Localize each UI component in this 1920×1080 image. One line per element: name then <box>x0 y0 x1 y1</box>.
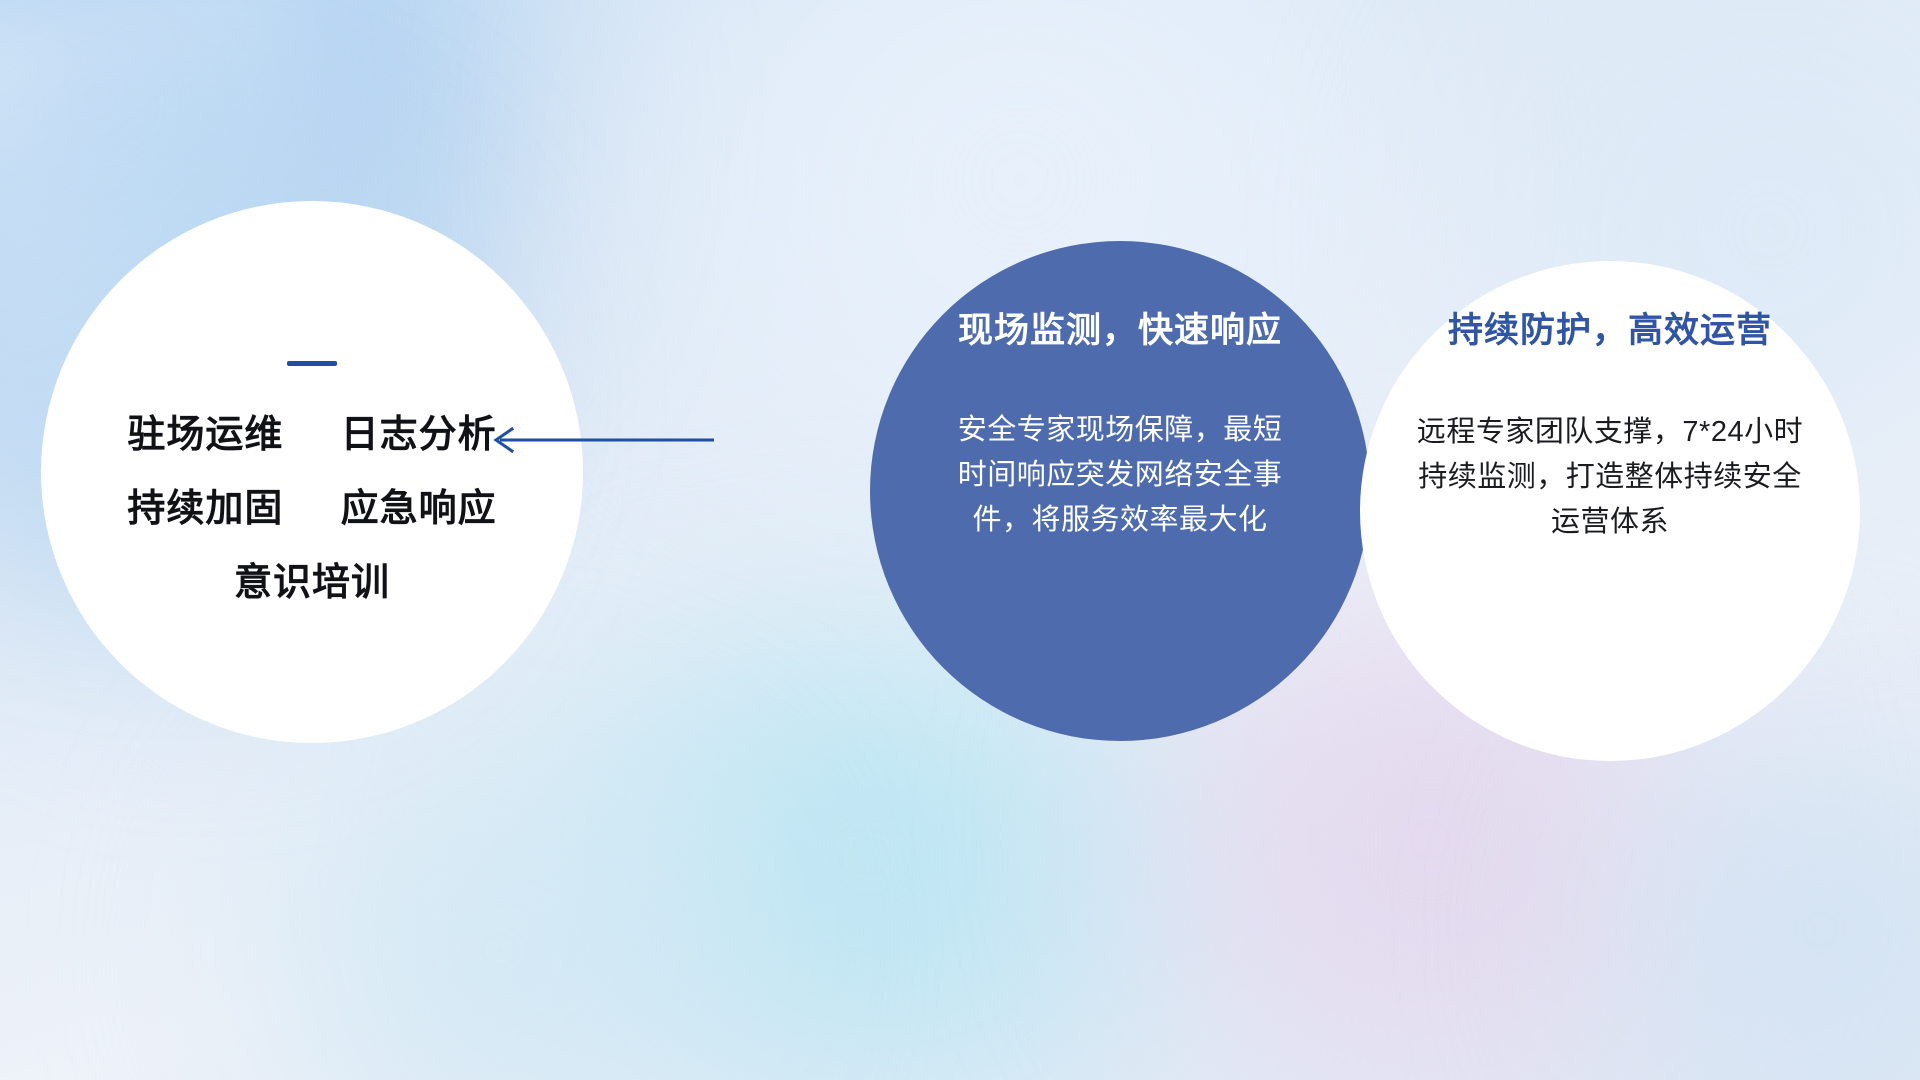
onsite-monitoring-title: 现场监测，快速响应 <box>958 313 1282 348</box>
continuous-protection-content: 持续防护，高效运营 远程专家团队支撑，7*24小时持续监测，打造整体持续安全运营… <box>1390 261 1830 761</box>
continuous-protection-circle: 持续防护，高效运营 远程专家团队支撑，7*24小时持续监测，打造整体持续安全运营… <box>1360 261 1860 761</box>
continuous-protection-title: 持续防护，高效运营 <box>1448 313 1772 348</box>
capability-row-1: 驻场运维 日志分析 <box>127 416 496 454</box>
capabilities-circle: 驻场运维 日志分析 持续加固 应急响应 意识培训 <box>41 201 583 743</box>
capability-label-awareness-training: 意识培训 <box>234 564 390 602</box>
arrow-left-icon <box>486 418 716 462</box>
continuous-protection-body: 远程专家团队支撑，7*24小时持续监测，打造整体持续安全运营体系 <box>1410 410 1810 545</box>
divider-line <box>287 361 337 366</box>
capability-label-emergency-response: 应急响应 <box>341 488 497 530</box>
onsite-monitoring-circle: 现场监测，快速响应 安全专家现场保障，最短时间响应突发网络安全事件，将服务效率最… <box>870 241 1370 741</box>
capability-label-onsite-ops: 驻场运维 <box>127 414 283 456</box>
onsite-monitoring-body: 安全专家现场保障，最短时间响应突发网络安全事件，将服务效率最大化 <box>955 408 1285 543</box>
capabilities-circle-content: 驻场运维 日志分析 持续加固 应急响应 意识培训 <box>41 201 583 743</box>
capability-row-2: 持续加固 应急响应 <box>127 490 496 528</box>
onsite-monitoring-content: 现场监测，快速响应 安全专家现场保障，最短时间响应突发网络安全事件，将服务效率最… <box>910 241 1330 741</box>
capability-label-log-analysis: 日志分析 <box>341 414 497 456</box>
capability-label-continuous-hardening: 持续加固 <box>127 488 283 530</box>
